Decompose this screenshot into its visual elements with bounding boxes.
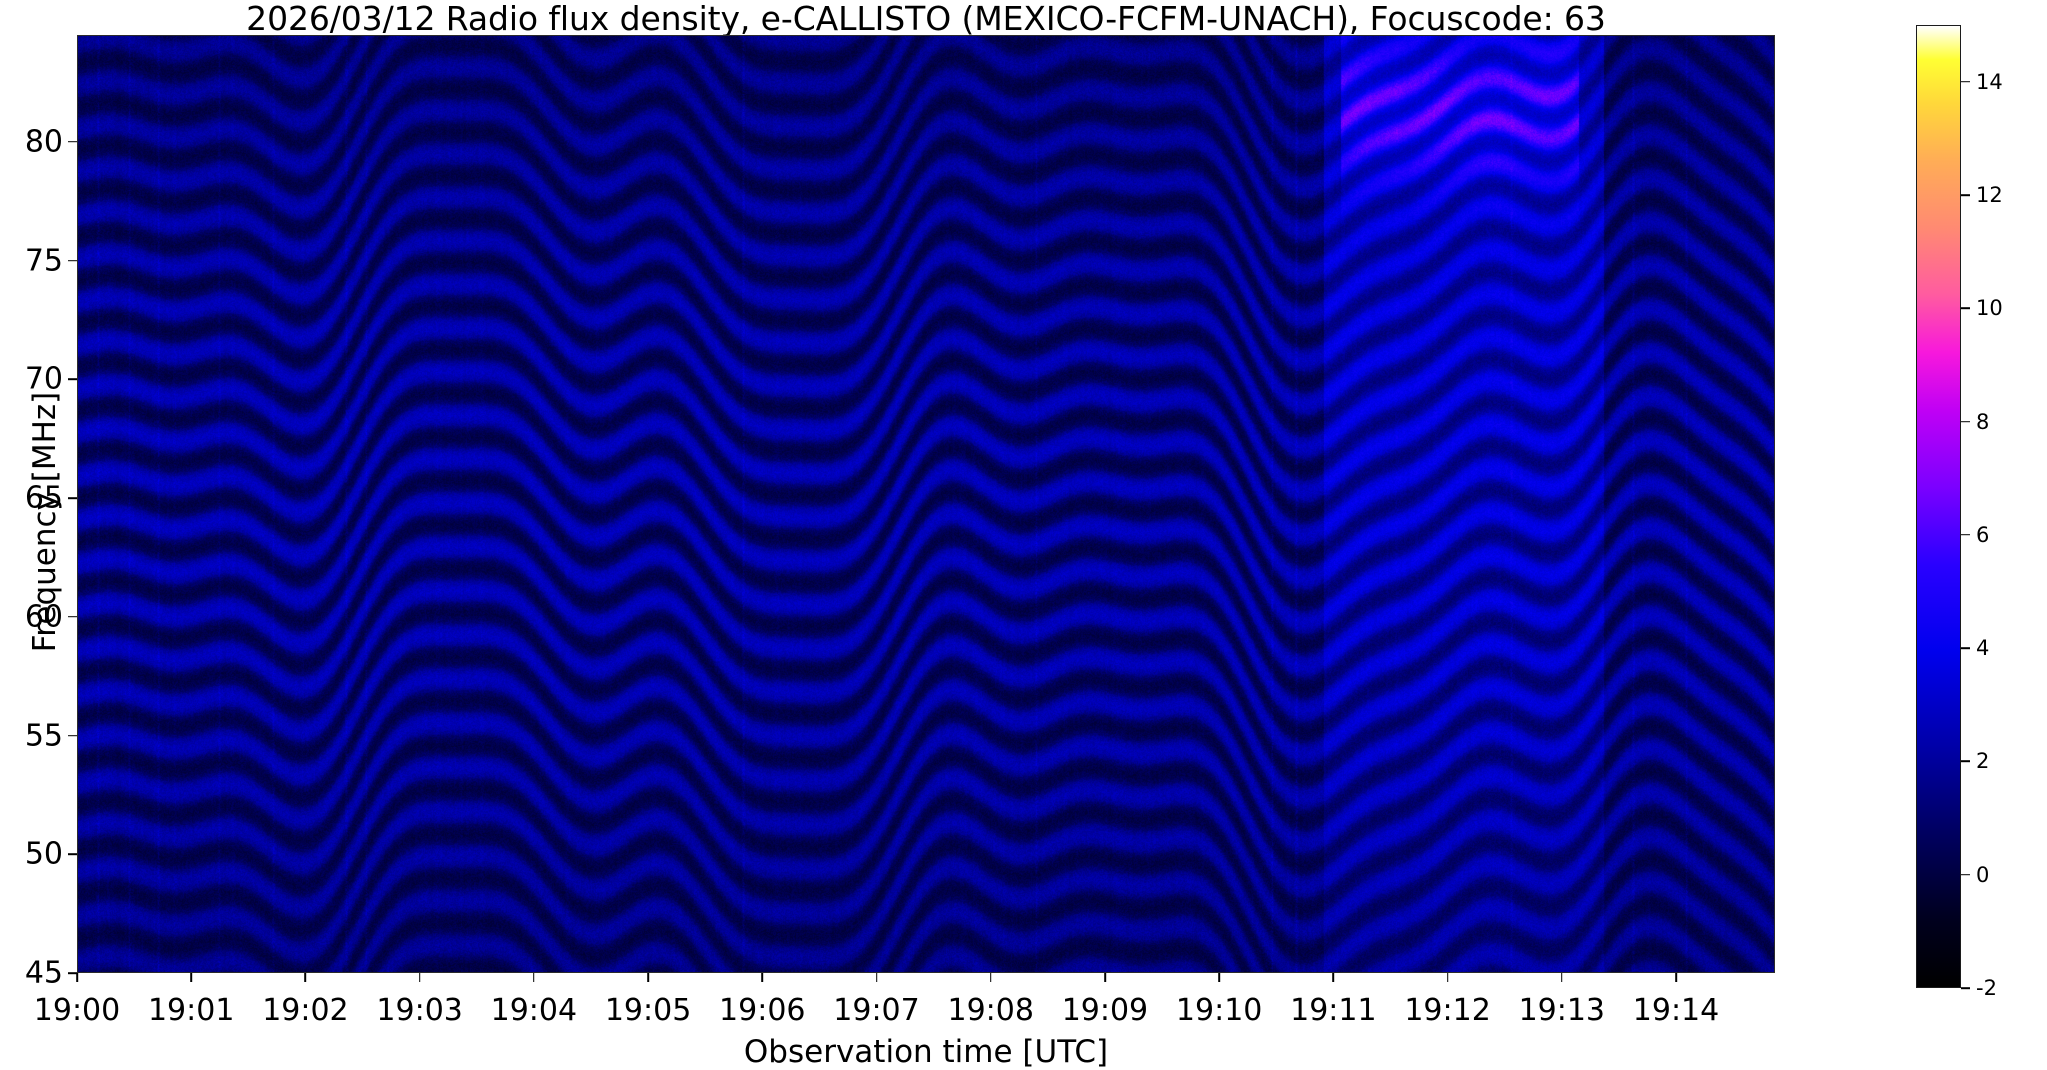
colorbar-tick-label: 0 <box>1976 863 1989 887</box>
x-tick-mark <box>1104 973 1106 982</box>
spectrogram-image <box>78 36 1774 972</box>
x-tick-mark <box>1675 973 1677 982</box>
y-tick-mark <box>68 379 77 381</box>
colorbar-tick-mark <box>1961 307 1970 309</box>
x-tick-mark <box>990 973 992 982</box>
y-tick-mark <box>68 141 77 143</box>
x-tick-label: 19:05 <box>605 993 691 1028</box>
x-tick-label: 19:04 <box>491 993 577 1028</box>
colorbar-tick-label: 4 <box>1976 636 1989 660</box>
colorbar-tick-mark <box>1961 647 1970 649</box>
x-tick-mark <box>305 973 307 982</box>
x-tick-mark <box>1447 973 1449 982</box>
x-tick-label: 19:13 <box>1519 993 1605 1028</box>
x-tick-mark <box>190 973 192 982</box>
y-tick-mark <box>68 497 77 499</box>
colorbar-tick-mark <box>1961 987 1970 989</box>
x-tick-label: 19:09 <box>1062 993 1148 1028</box>
x-tick-label: 19:06 <box>719 993 805 1028</box>
colorbar-tick-mark <box>1961 761 1970 763</box>
x-tick-label: 19:14 <box>1633 993 1719 1028</box>
colorbar-tick-mark <box>1961 81 1970 83</box>
x-tick-label: 19:03 <box>376 993 462 1028</box>
colorbar-tick-mark <box>1961 534 1970 536</box>
x-tick-label: 19:07 <box>833 993 919 1028</box>
x-tick-mark <box>647 973 649 982</box>
colorbar[interactable] <box>1916 25 1961 988</box>
x-tick-mark <box>419 973 421 982</box>
colorbar-tick-label: 2 <box>1976 749 1989 773</box>
colorbar-tick-mark <box>1961 194 1970 196</box>
y-axis-label: Frequency [MHz] <box>27 52 63 992</box>
x-tick-label: 19:12 <box>1404 993 1490 1028</box>
colorbar-tick-label: 8 <box>1976 410 1989 434</box>
y-tick-mark <box>68 260 77 262</box>
x-tick-label: 19:10 <box>1176 993 1262 1028</box>
x-tick-mark <box>1333 973 1335 982</box>
x-tick-label: 19:00 <box>34 993 120 1028</box>
y-tick-mark <box>68 735 77 737</box>
x-tick-label: 19:02 <box>262 993 348 1028</box>
colorbar-tick-label: 12 <box>1976 183 2003 207</box>
colorbar-tick-mark <box>1961 421 1970 423</box>
x-axis-label: Observation time [UTC] <box>77 1034 1775 1070</box>
colorbar-tick-group: -202468101214 <box>1961 0 2047 1067</box>
colorbar-tick-label: 6 <box>1976 523 1989 547</box>
x-tick-label: 19:08 <box>947 993 1033 1028</box>
x-tick-mark <box>761 973 763 982</box>
x-tick-mark <box>76 973 78 982</box>
colorbar-tick-label: 10 <box>1976 296 2003 320</box>
page-title: 2026/03/12 Radio flux density, e-CALLIST… <box>77 2 1775 36</box>
colorbar-tick-label: 14 <box>1976 70 2003 94</box>
x-tick-label: 19:01 <box>148 993 234 1028</box>
x-tick-label: 19:11 <box>1290 993 1376 1028</box>
y-tick-mark <box>68 853 77 855</box>
y-tick-mark <box>68 616 77 618</box>
x-tick-mark <box>876 973 878 982</box>
spectrogram-axes[interactable] <box>77 35 1775 973</box>
colorbar-tick-label: -2 <box>1976 976 1997 1000</box>
colorbar-tick-mark <box>1961 874 1970 876</box>
y-axis: 4550556065707580 Frequency [MHz] <box>0 0 77 1067</box>
figure-canvas: 2026/03/12 Radio flux density, e-CALLIST… <box>0 0 2047 1067</box>
colorbar-gradient <box>1917 26 1960 987</box>
x-tick-mark <box>1218 973 1220 982</box>
x-tick-mark <box>1561 973 1563 982</box>
x-axis: 19:0019:0119:0219:0319:0419:0519:0619:07… <box>0 973 2047 1067</box>
x-tick-mark <box>533 973 535 982</box>
